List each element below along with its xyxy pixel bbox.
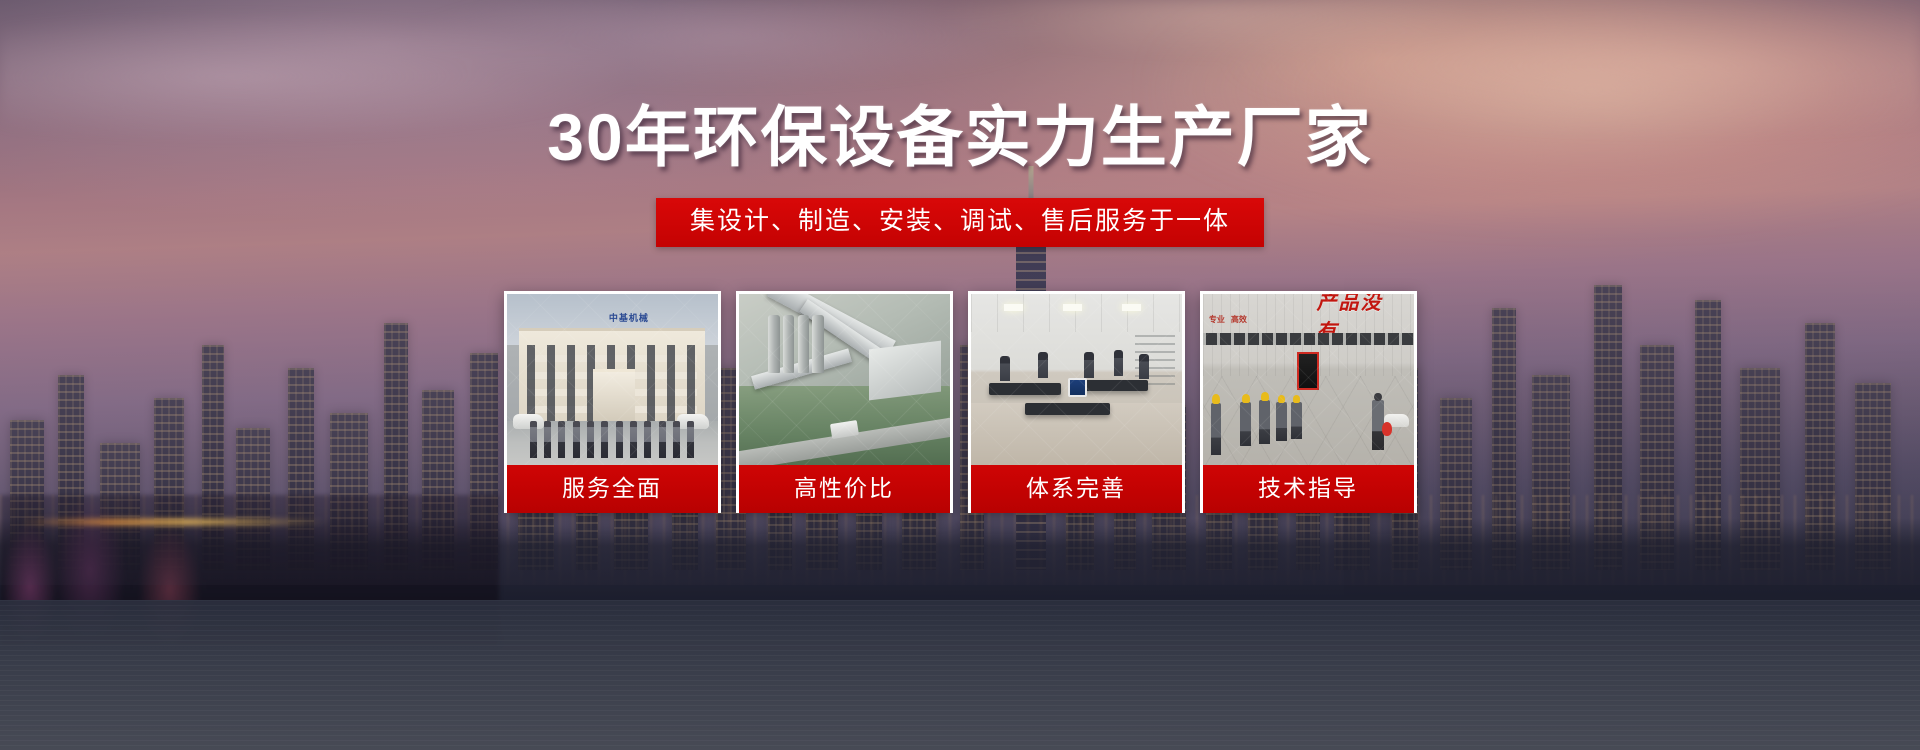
hero-content: 30年环保设备实力生产厂家 集设计、制造、安装、调试、售后服务于一体 中基机械 — [0, 0, 1920, 750]
hero-headline: 30年环保设备实力生产厂家 — [547, 104, 1372, 170]
workshop-banner-small: 专业 高效 — [1209, 309, 1264, 330]
card-photo-production-plant — [739, 294, 950, 465]
feature-card-value[interactable]: 高性价比 — [736, 291, 953, 513]
card-caption-value: 高性价比 — [739, 465, 950, 513]
feature-card-system[interactable]: 体系完善 — [968, 291, 1185, 513]
workshop-slogan-1: 专业 — [1209, 314, 1225, 325]
building-sign-text: 中基机械 — [587, 309, 671, 324]
card-photo-office-building: 中基机械 — [507, 294, 718, 465]
card-caption-guidance: 技术指导 — [1203, 465, 1414, 513]
card-photo-office-interior — [971, 294, 1182, 465]
feature-card-row: 中基机械 服务全面 — [504, 291, 1417, 513]
card-caption-service: 服务全面 — [507, 465, 718, 513]
hero-subtitle-banner: 集设计、制造、安装、调试、售后服务于一体 — [656, 198, 1264, 247]
feature-card-guidance[interactable]: 产品没有 专业 高效 — [1200, 291, 1417, 513]
hero-banner: 30年环保设备实力生产厂家 集设计、制造、安装、调试、售后服务于一体 中基机械 — [0, 0, 1920, 750]
card-caption-system: 体系完善 — [971, 465, 1182, 513]
card-photo-workshop: 产品没有 专业 高效 — [1203, 294, 1414, 465]
workshop-slogan-2: 高效 — [1231, 314, 1247, 325]
workshop-banner-text: 产品没有 — [1316, 303, 1400, 327]
feature-card-service[interactable]: 中基机械 服务全面 — [504, 291, 721, 513]
